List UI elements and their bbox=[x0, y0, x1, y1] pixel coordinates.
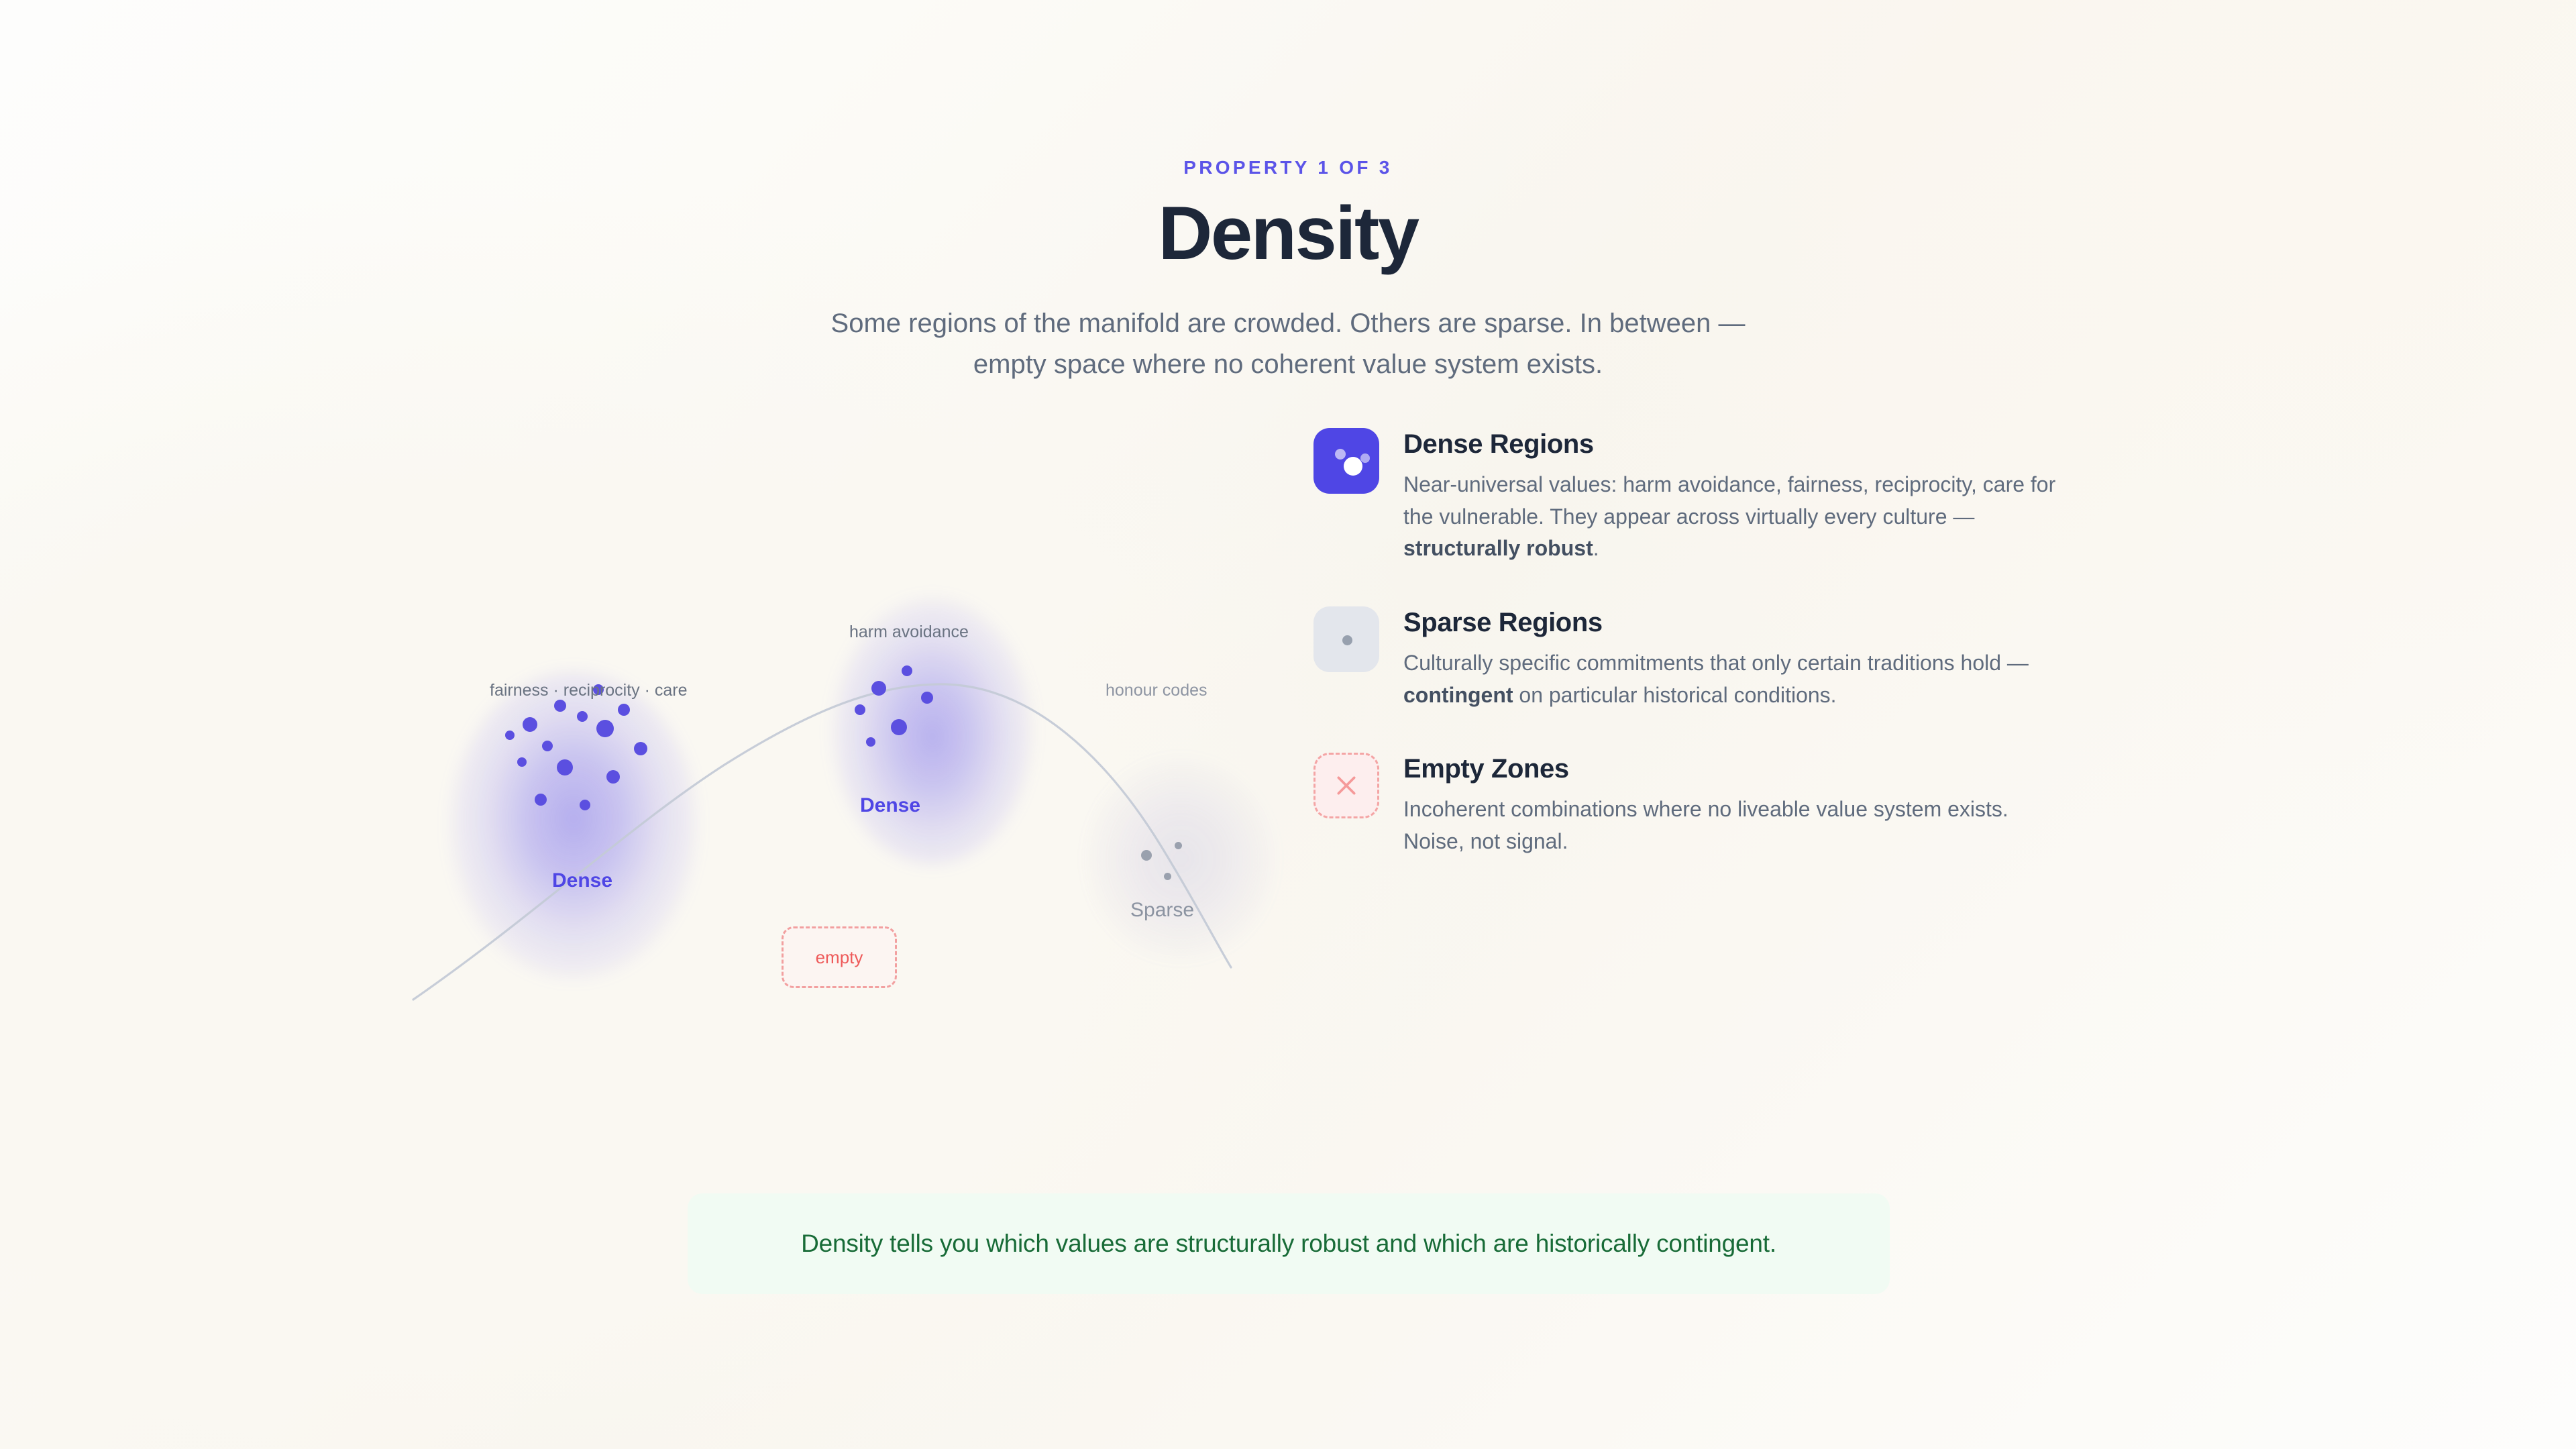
data-point bbox=[1141, 850, 1152, 861]
data-point bbox=[596, 720, 614, 737]
data-point bbox=[921, 692, 933, 704]
data-point bbox=[577, 711, 588, 722]
data-point bbox=[902, 665, 912, 676]
dense-cluster-icon bbox=[1313, 428, 1379, 494]
feature-body: Near-universal values: harm avoidance, f… bbox=[1403, 469, 2072, 565]
data-point bbox=[505, 731, 515, 740]
feature-body: Culturally specific commitments that onl… bbox=[1403, 647, 2072, 711]
feature-text: Dense Regions Near-universal values: har… bbox=[1403, 428, 2072, 565]
data-point bbox=[855, 704, 865, 715]
feature-body-before: Incoherent combinations where no liveabl… bbox=[1403, 797, 2008, 853]
feature-body-before: Near-universal values: harm avoidance, f… bbox=[1403, 472, 2055, 529]
data-point bbox=[634, 742, 647, 755]
sparse-dot-icon bbox=[1313, 606, 1379, 672]
feature-heading: Dense Regions bbox=[1403, 429, 2072, 460]
tag-sparse: Sparse bbox=[1130, 899, 1194, 922]
x-mark-glyph bbox=[1333, 772, 1360, 799]
data-point bbox=[1164, 873, 1171, 880]
summary-banner: Density tells you which values are struc… bbox=[688, 1193, 1890, 1294]
data-point bbox=[606, 770, 620, 784]
data-point bbox=[871, 681, 886, 696]
tag-dense-left: Dense bbox=[552, 869, 612, 892]
data-point bbox=[557, 759, 573, 775]
sparse-icon-dot bbox=[1342, 635, 1352, 645]
empty-zone-x-icon bbox=[1313, 753, 1379, 818]
feature-empty-zones: Empty Zones Incoherent combinations wher… bbox=[1313, 753, 2072, 857]
data-point bbox=[535, 794, 547, 806]
data-point bbox=[618, 704, 630, 716]
data-point bbox=[866, 737, 875, 747]
feature-text: Sparse Regions Culturally specific commi… bbox=[1403, 606, 2072, 711]
data-point bbox=[554, 700, 566, 712]
feature-body-before: Culturally specific commitments that onl… bbox=[1403, 651, 2029, 675]
feature-body-strong: structurally robust bbox=[1403, 536, 1593, 560]
page-subtitle: Some regions of the manifold are crowded… bbox=[0, 303, 2576, 385]
empty-zone-label: empty bbox=[816, 947, 863, 968]
data-point bbox=[580, 800, 590, 810]
feature-heading: Sparse Regions bbox=[1403, 608, 2072, 638]
data-point bbox=[517, 757, 527, 767]
feature-list: Dense Regions Near-universal values: har… bbox=[1313, 428, 2072, 858]
empty-zone-box: empty bbox=[782, 926, 897, 988]
data-point bbox=[891, 719, 907, 735]
feature-body-strong: contingent bbox=[1403, 683, 1513, 707]
eyebrow-label: PROPERTY 1 OF 3 bbox=[0, 157, 2576, 178]
data-point bbox=[523, 717, 537, 732]
dense-icon-dot-small-right bbox=[1360, 453, 1370, 463]
feature-sparse-regions: Sparse Regions Culturally specific commi… bbox=[1313, 606, 2072, 711]
summary-banner-text: Density tells you which values are struc… bbox=[801, 1230, 1776, 1258]
data-point bbox=[1175, 842, 1182, 849]
cluster-label-fairness: fairness · reciprocity · care bbox=[490, 681, 688, 700]
cluster-label-harm-avoidance: harm avoidance bbox=[849, 623, 969, 642]
data-point bbox=[542, 741, 553, 751]
feature-body-after: on particular historical conditions. bbox=[1513, 683, 1837, 707]
tag-dense-middle: Dense bbox=[860, 794, 920, 817]
slide-root: PROPERTY 1 OF 3 Density Some regions of … bbox=[0, 0, 2576, 1449]
feature-dense-regions: Dense Regions Near-universal values: har… bbox=[1313, 428, 2072, 565]
page-title: Density bbox=[0, 193, 2576, 274]
feature-heading: Empty Zones bbox=[1403, 754, 2072, 784]
feature-body: Incoherent combinations where no liveabl… bbox=[1403, 794, 2072, 857]
feature-text: Empty Zones Incoherent combinations wher… bbox=[1403, 753, 2072, 857]
density-scatter-visualization: fairness · reciprocity · care harm avoid… bbox=[409, 604, 1295, 1020]
cluster-label-honour-codes: honour codes bbox=[1106, 681, 1207, 700]
subtitle-line-1: Some regions of the manifold are crowded… bbox=[0, 303, 2576, 344]
dense-icon-dot-small-left bbox=[1335, 449, 1346, 460]
feature-body-after: . bbox=[1593, 536, 1599, 560]
dense-icon-dot-large bbox=[1344, 457, 1362, 476]
subtitle-line-2: empty space where no coherent value syst… bbox=[0, 344, 2576, 385]
